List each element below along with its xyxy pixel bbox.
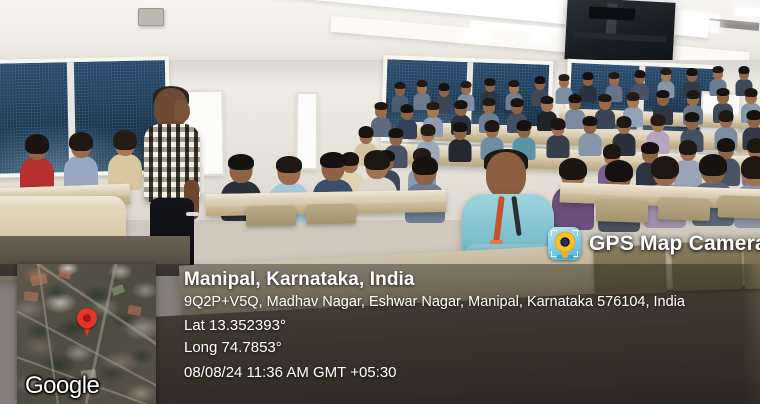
map-thumbnail[interactable]: Google: [17, 264, 156, 404]
audience-member: [110, 132, 140, 188]
gps-map-camera-photo: GPS Map Camera Google Manipal, Karnataka…: [0, 0, 760, 404]
latitude-value: Lat 13.352393°: [184, 315, 744, 337]
seat-back: [246, 206, 296, 227]
audience-member: [548, 120, 568, 154]
seat-back: [596, 199, 649, 223]
gps-map-camera-icon: [548, 227, 581, 260]
audience-member: [580, 118, 600, 152]
ceiling-light: [735, 7, 760, 17]
seat-back: [658, 197, 711, 221]
gps-app-name: GPS Map Camera: [589, 232, 760, 256]
place-name: Manipal, Karnataka, India: [184, 268, 744, 291]
map-pin-icon: [77, 308, 97, 336]
full-address: 9Q2P+V5Q, Madhav Nagar, Eshwar Nagar, Ma…: [184, 293, 744, 312]
seat-back: [306, 204, 356, 225]
audience-member: [66, 134, 96, 190]
longitude-value: Long 74.7853°: [184, 337, 744, 359]
google-watermark: Google: [25, 372, 99, 400]
gps-map-camera-badge: GPS Map Camera: [548, 227, 760, 260]
ceiling-light: [530, 33, 549, 42]
timestamp: 08/08/24 11:36 AM GMT +05:30: [184, 362, 744, 384]
wall-mounted-display: [564, 0, 675, 65]
wall-speaker: [138, 8, 164, 26]
location-info: Manipal, Karnataka, India 9Q2P+V5Q, Madh…: [184, 268, 744, 384]
seat-back: [718, 195, 760, 219]
audience-member: [22, 136, 52, 192]
